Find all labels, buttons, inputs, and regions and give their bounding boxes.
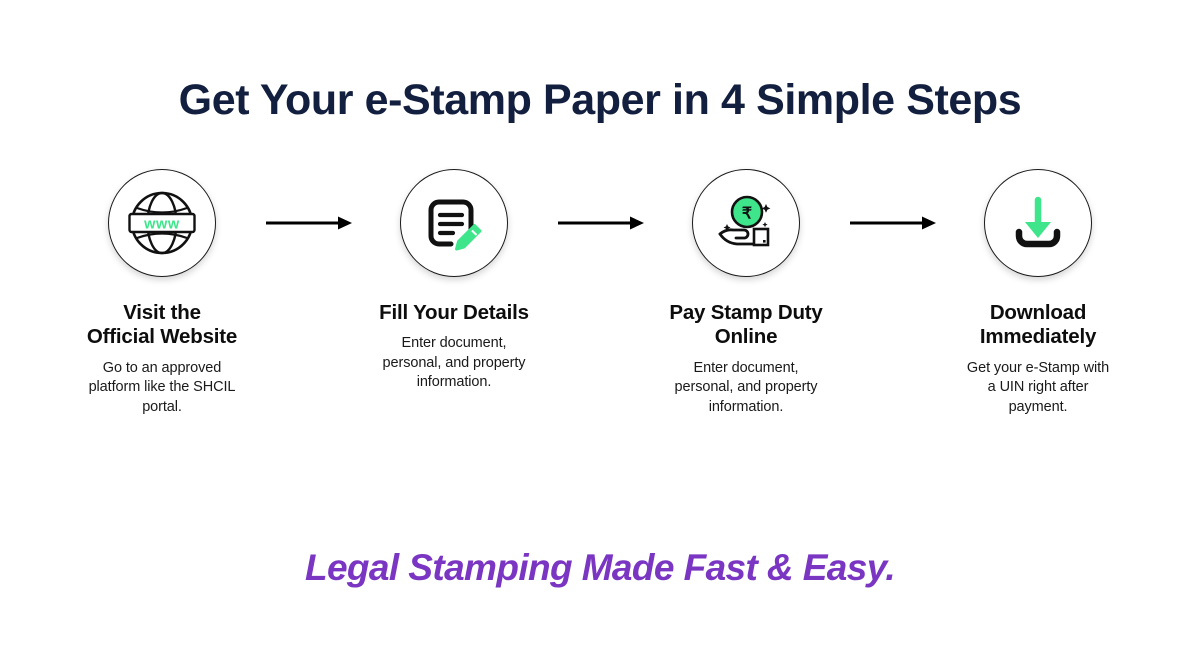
rupee-symbol: ₹ bbox=[742, 206, 752, 223]
page-title: Get Your e-Stamp Paper in 4 Simple Steps bbox=[179, 78, 1022, 123]
document-pencil-icon bbox=[417, 186, 491, 260]
globe-www-label: www bbox=[143, 217, 180, 233]
footer-tagline: Legal Stamping Made Fast & Easy. bbox=[0, 548, 1200, 589]
connector-1 bbox=[264, 169, 352, 277]
download-arrow-icon bbox=[1001, 186, 1075, 260]
infographic-page: Get Your e-Stamp Paper in 4 Simple Steps… bbox=[0, 0, 1200, 672]
arrow-right-icon bbox=[264, 213, 352, 233]
pencil-icon bbox=[457, 226, 481, 250]
step-3-description: Enter document, personal, and property i… bbox=[651, 359, 841, 418]
step-2-text: Fill Your Details Enter document, person… bbox=[359, 301, 549, 393]
connector-3 bbox=[848, 169, 936, 277]
step-1-text: Visit the Official Website Go to an appr… bbox=[67, 301, 257, 417]
step-3-pay-stamp-duty-online: ₹ Pay Stamp Duty Online Enter document, … bbox=[644, 169, 848, 417]
step-4-text: Download Immediately Get your e-Stamp wi… bbox=[943, 301, 1133, 417]
rupee-coin-icon: ₹ bbox=[732, 197, 762, 227]
step-3-title: Pay Stamp Duty Online bbox=[651, 301, 841, 349]
step-4-description: Get your e-Stamp with a UIN right after … bbox=[943, 359, 1133, 418]
globe-www-icon: www bbox=[125, 186, 199, 260]
hand-rupee-coin-icon: ₹ bbox=[709, 186, 783, 260]
step-1-description: Go to an approved platform like the SHCI… bbox=[67, 359, 257, 418]
step-1-icon-circle: www bbox=[108, 169, 216, 277]
step-4-icon-circle bbox=[984, 169, 1092, 277]
step-1-title: Visit the Official Website bbox=[67, 301, 257, 349]
step-1-visit-official-website: www Visit the Official Website Go to an … bbox=[60, 169, 264, 417]
arrow-right-icon bbox=[848, 213, 936, 233]
step-2-description: Enter document, personal, and property i… bbox=[359, 334, 549, 393]
step-4-title: Download Immediately bbox=[943, 301, 1133, 349]
connector-2 bbox=[556, 169, 644, 277]
steps-row: www Visit the Official Website Go to an … bbox=[60, 169, 1140, 417]
step-2-fill-your-details: Fill Your Details Enter document, person… bbox=[352, 169, 556, 393]
step-3-text: Pay Stamp Duty Online Enter document, pe… bbox=[651, 301, 841, 417]
step-2-title: Fill Your Details bbox=[359, 301, 549, 325]
step-4-download-immediately: Download Immediately Get your e-Stamp wi… bbox=[936, 169, 1140, 417]
step-3-icon-circle: ₹ bbox=[692, 169, 800, 277]
step-2-icon-circle bbox=[400, 169, 508, 277]
arrow-right-icon bbox=[556, 213, 644, 233]
